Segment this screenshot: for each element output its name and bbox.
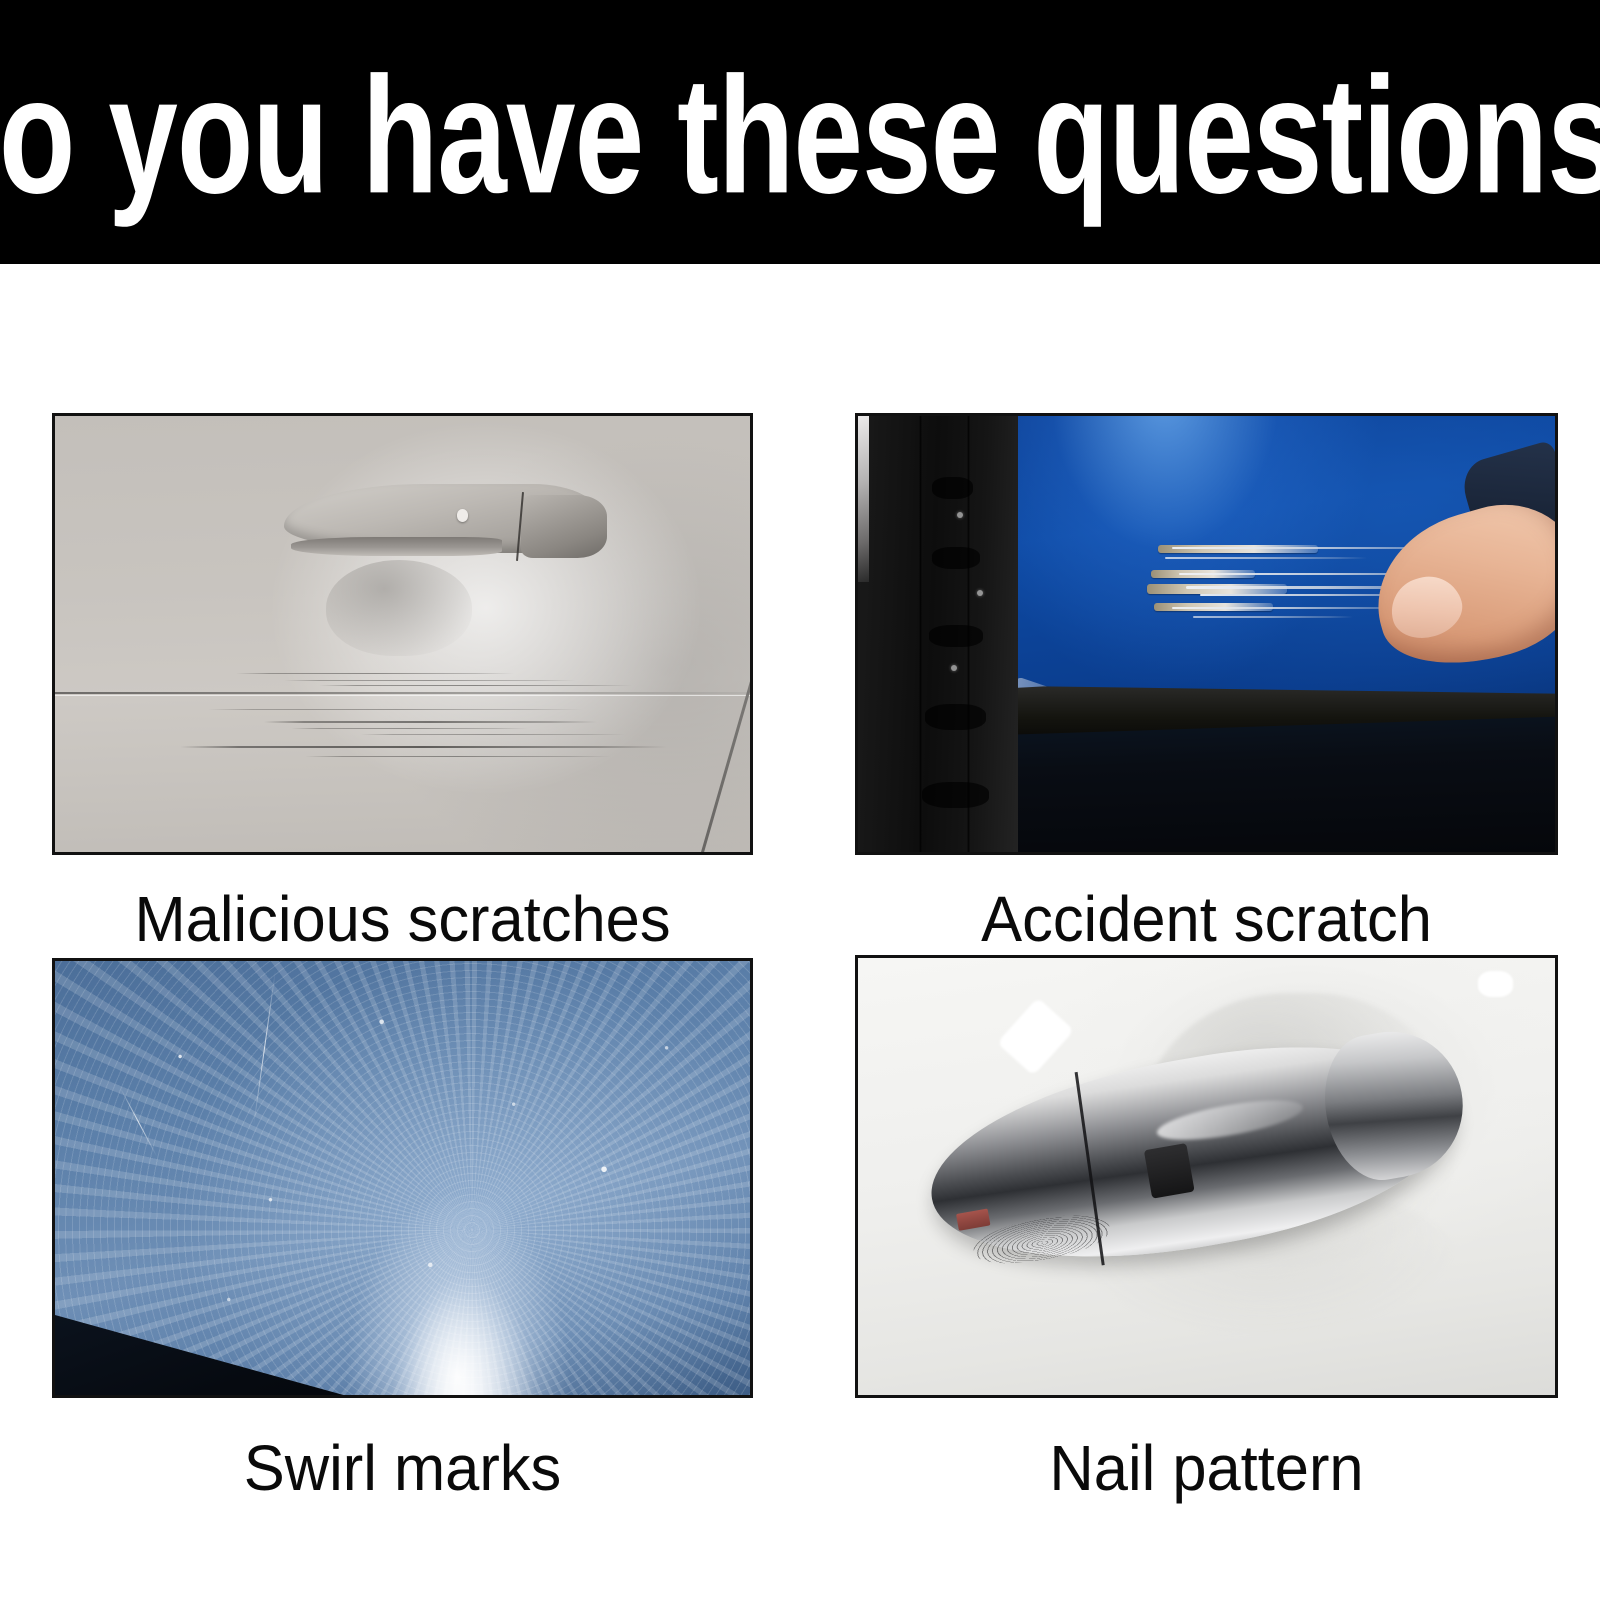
specular-highlight — [1478, 971, 1513, 997]
scratch-line — [264, 721, 598, 723]
panel-caption: Nail pattern — [869, 1436, 1544, 1500]
blue-car-panel-illustration — [858, 416, 1555, 852]
photo-malicious-scratches — [52, 413, 753, 855]
panel-accident-scratch: Accident scratch — [855, 413, 1558, 951]
tyre-tread-block — [925, 704, 986, 730]
panel-caption: Accident scratch — [869, 887, 1544, 951]
tyre-tread-block — [922, 782, 989, 808]
tyre-tread-block — [929, 625, 984, 647]
scratch-line — [180, 746, 667, 748]
water-droplet — [977, 590, 983, 596]
photo-nail-pattern — [855, 955, 1558, 1398]
sun-glare — [389, 1273, 542, 1398]
photo-accident-scratch — [855, 413, 1558, 855]
door-handle — [284, 484, 604, 580]
water-droplet — [957, 512, 963, 518]
tyre-tread-block — [932, 547, 980, 569]
handle-underside — [291, 537, 502, 556]
fingernail — [1383, 569, 1468, 646]
panel-grid: Malicious scratches — [0, 264, 1600, 1600]
white-door-handle-illustration — [858, 958, 1555, 1395]
page-title: Do you have these questions? — [0, 52, 1600, 218]
handle-sensor-button — [1144, 1142, 1194, 1197]
panel-swirl-marks: Swirl marks — [52, 958, 753, 1500]
scratch-line — [291, 728, 527, 729]
swirl-paint-illustration — [55, 961, 750, 1395]
panel-malicious-scratches: Malicious scratches — [52, 413, 753, 951]
handle-end-cap — [521, 495, 607, 558]
tyre-tread-block — [932, 477, 974, 499]
panel-caption: Malicious scratches — [66, 887, 739, 951]
body-crease-highlight — [52, 695, 753, 696]
water-droplet — [951, 665, 957, 671]
scratch-line — [208, 709, 583, 710]
wheel-rim — [858, 416, 869, 582]
body-crease-line — [52, 692, 753, 694]
header-banner: Do you have these questions? — [0, 0, 1600, 264]
scratch-line — [1193, 616, 1353, 618]
tyre-groove — [919, 416, 922, 852]
scratch-line — [1165, 557, 1367, 559]
photo-swirl-marks — [52, 958, 753, 1398]
scratch-line — [305, 756, 611, 757]
panel-caption: Swirl marks — [66, 1436, 739, 1500]
car-door-grey-illustration — [55, 416, 750, 852]
panel-nail-pattern: Nail pattern — [855, 955, 1558, 1500]
tyre — [858, 416, 1018, 852]
